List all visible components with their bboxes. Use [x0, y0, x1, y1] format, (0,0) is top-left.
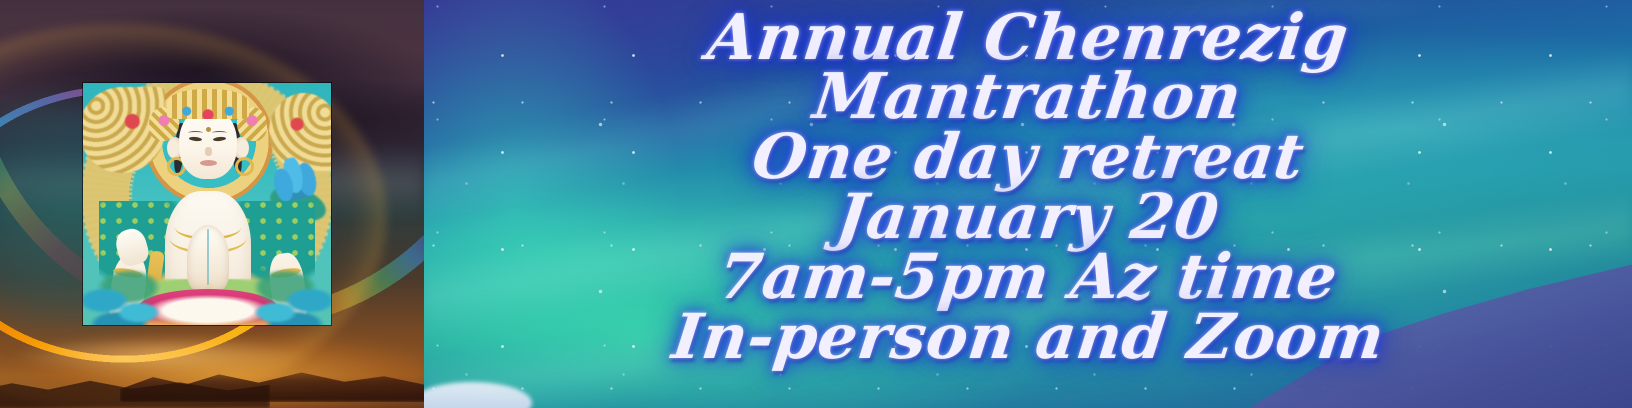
nose	[205, 147, 212, 156]
jeweled-crown	[167, 89, 249, 119]
water-swirl-right	[243, 279, 331, 325]
eyebrow-right	[212, 131, 227, 135]
water-swirl-left	[83, 279, 171, 325]
event-poster: Annual Chenrezig Mantrathon One day retr…	[0, 0, 1632, 408]
urna-mark	[206, 127, 211, 132]
eyebrow-left	[188, 131, 203, 135]
earring-right	[235, 157, 254, 176]
rainbow-landscape-panel	[0, 0, 424, 408]
mouth	[200, 160, 217, 166]
aurora-sky-panel	[424, 0, 1632, 408]
praying-hands-seam	[207, 229, 209, 285]
chenrezig-thangka-image	[83, 83, 331, 325]
